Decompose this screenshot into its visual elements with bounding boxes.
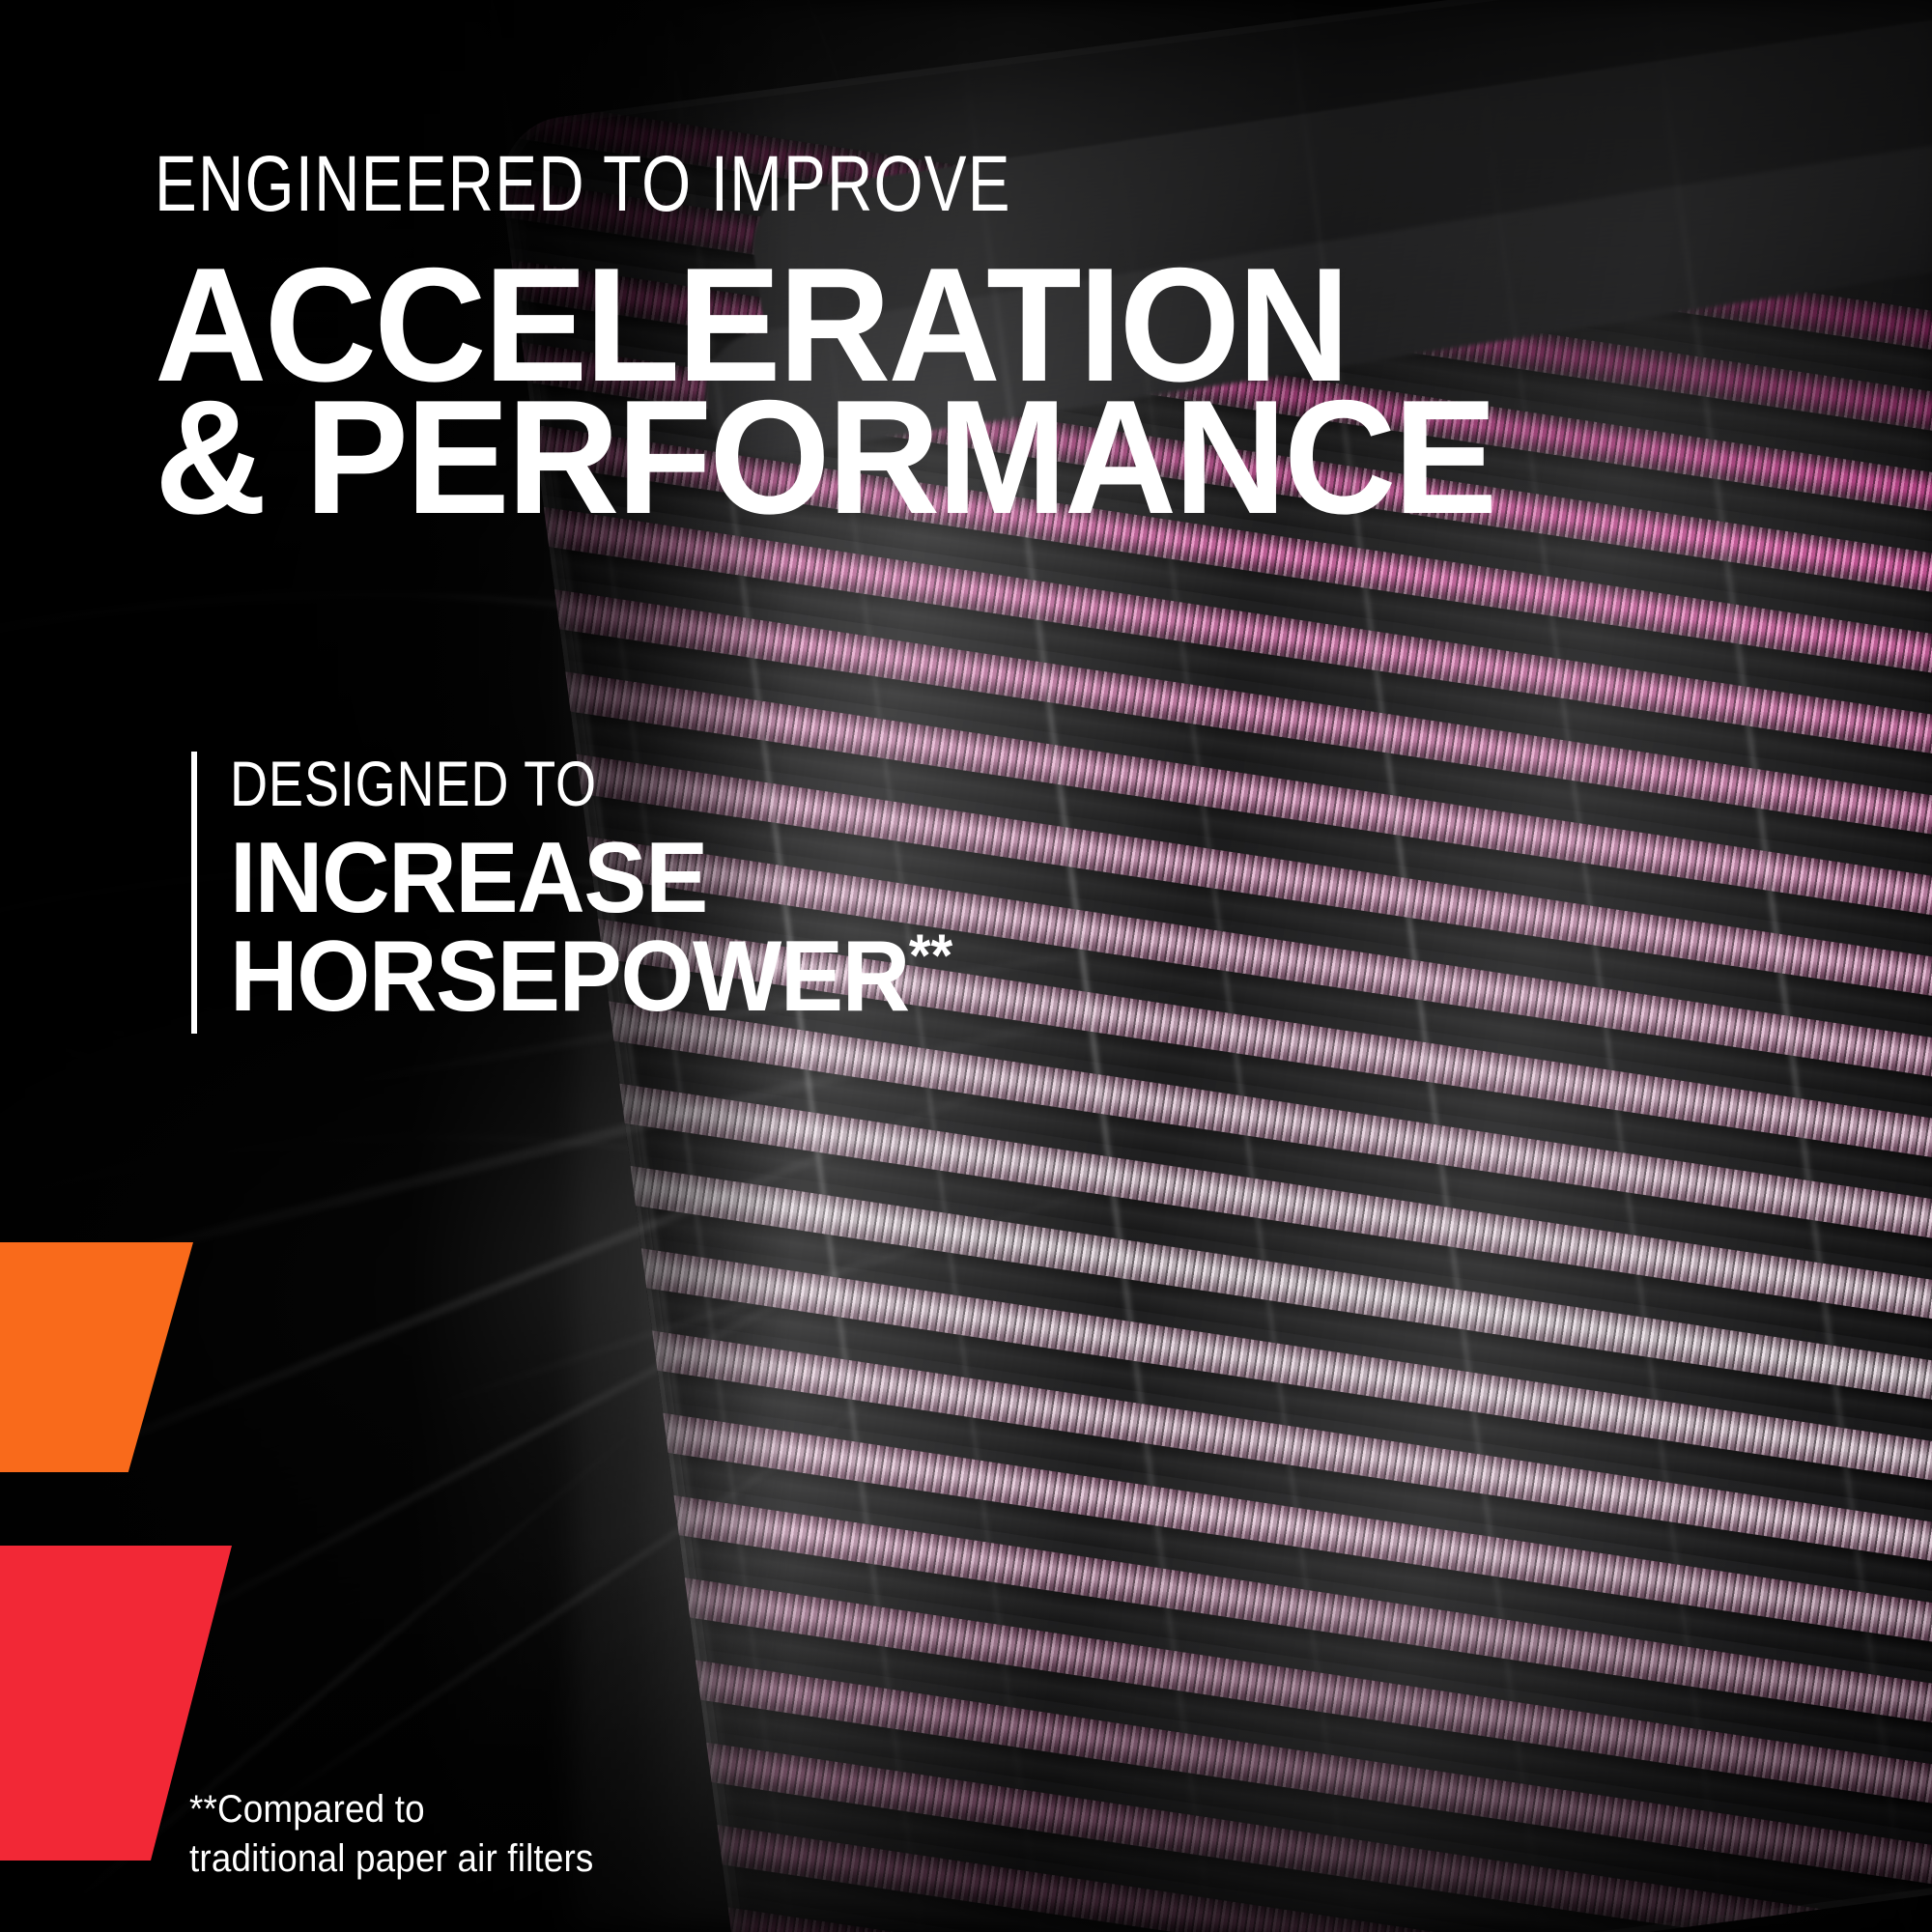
footnote-block: **Compared to traditional paper air filt… xyxy=(189,1785,594,1884)
subhead-line-2: HORSEPOWER** xyxy=(230,925,952,1028)
subhead-kicker: DESIGNED TO xyxy=(230,752,861,815)
subhead-line-1: INCREASE xyxy=(230,827,952,929)
footnote-line-2: traditional paper air filters xyxy=(189,1834,594,1884)
headline-line-2: & PERFORMANCE xyxy=(155,384,1824,530)
marketing-banner: ENGINEERED TO IMPROVE ACCELERATION & PER… xyxy=(0,0,1932,1932)
headline-block: ENGINEERED TO IMPROVE ACCELERATION & PER… xyxy=(155,147,1893,530)
subhead-line-2-text: HORSEPOWER xyxy=(230,921,909,1033)
headline-kicker: ENGINEERED TO IMPROVE xyxy=(155,147,1546,223)
footnote-marker: ** xyxy=(909,923,952,989)
subhead-block: DESIGNED TO INCREASE HORSEPOWER** xyxy=(191,752,999,1034)
footnote-line-1: **Compared to xyxy=(189,1785,594,1834)
